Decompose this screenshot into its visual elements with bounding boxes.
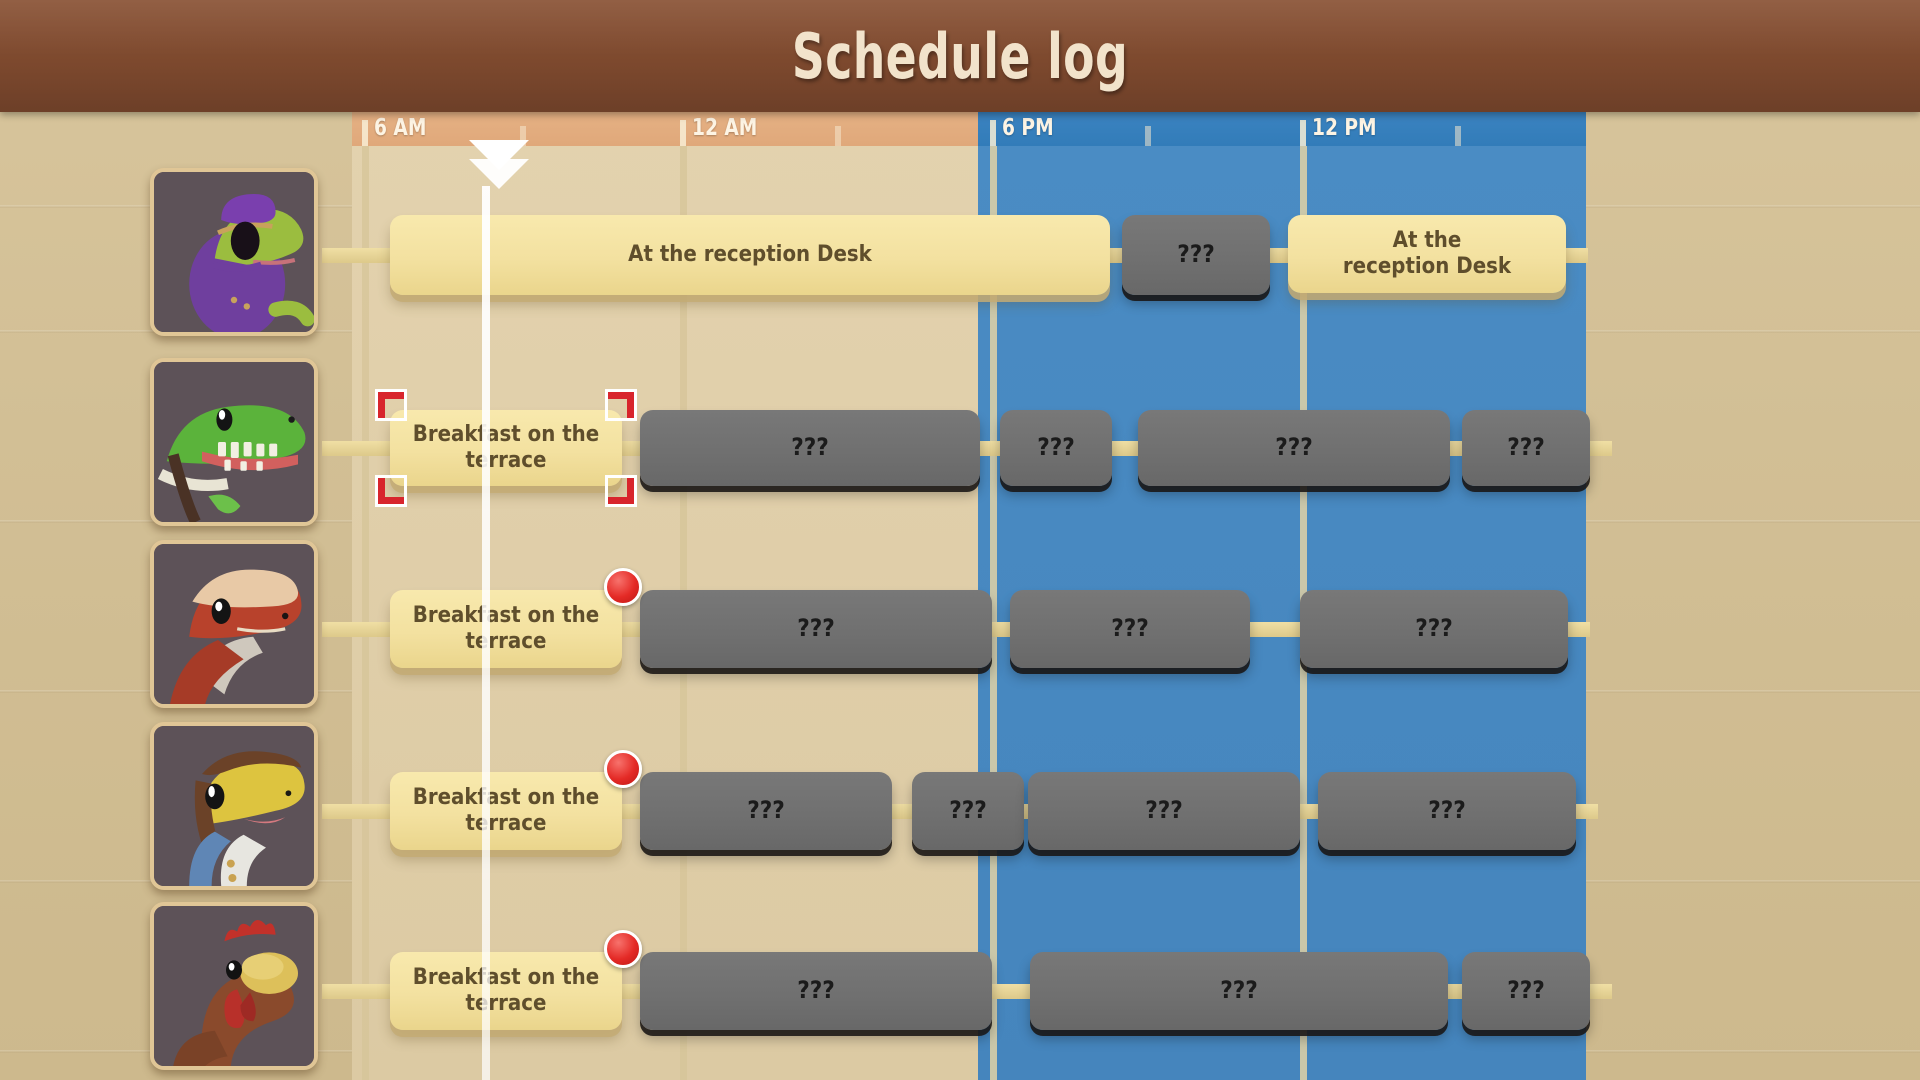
unknown-activity-card[interactable]: ??? — [1000, 410, 1112, 486]
unknown-activity-card[interactable]: ??? — [1318, 772, 1576, 850]
hour-label: 6 AM — [374, 115, 426, 141]
unknown-activity-card[interactable]: ??? — [912, 772, 1024, 850]
unknown-activity-card[interactable]: ??? — [640, 410, 980, 486]
activity-card-label: ??? — [737, 797, 795, 825]
activity-card-label: ??? — [787, 977, 845, 1005]
activity-card-label: ??? — [1210, 977, 1268, 1005]
activity-card[interactable]: At the reception Desk — [390, 215, 1110, 295]
unknown-activity-card[interactable]: ??? — [1122, 215, 1270, 295]
hour-header-strip[interactable]: 6 AM12 AM6 PM12 PM — [352, 112, 1586, 146]
hour-tick-minor — [1455, 126, 1461, 146]
character-portrait-brown-rooster[interactable] — [150, 902, 318, 1070]
activity-card-label: ??? — [1497, 434, 1555, 462]
avatar — [154, 726, 314, 886]
activity-card[interactable]: Breakfast on the terrace — [390, 590, 622, 668]
unknown-activity-card[interactable]: ??? — [1010, 590, 1250, 668]
unknown-activity-card[interactable]: ??? — [1030, 952, 1448, 1030]
avatar — [154, 362, 314, 522]
unknown-activity-card[interactable]: ??? — [1462, 952, 1590, 1030]
hour-tick-major — [990, 120, 996, 146]
alert-badge-icon[interactable] — [604, 750, 642, 788]
avatar — [154, 172, 314, 332]
hour-tick-major — [680, 120, 686, 146]
hour-tick-minor — [835, 126, 841, 146]
avatar — [154, 906, 314, 1066]
title-bar: Schedule log — [0, 0, 1920, 112]
unknown-activity-card[interactable]: ??? — [1138, 410, 1450, 486]
unknown-activity-card[interactable]: ??? — [1462, 410, 1590, 486]
activity-card-label: ??? — [781, 434, 839, 462]
hour-header-night-segment — [978, 112, 1586, 146]
activity-card-label: Breakfast on the terrace — [403, 785, 609, 836]
hour-tick-minor — [1145, 126, 1151, 146]
unknown-activity-card[interactable]: ??? — [640, 952, 992, 1030]
activity-card-label: Breakfast on the terrace — [403, 422, 609, 473]
activity-card-label: Breakfast on the terrace — [403, 965, 609, 1016]
activity-card-label: At the reception Desk — [1333, 228, 1521, 279]
activity-card-label: ??? — [1418, 797, 1476, 825]
unknown-activity-card[interactable]: ??? — [640, 590, 992, 668]
activity-card-label: ??? — [1405, 615, 1463, 643]
activity-card-label: Breakfast on the terrace — [403, 603, 609, 654]
activity-card[interactable]: Breakfast on the terrace — [390, 772, 622, 850]
activity-card-label: ??? — [1497, 977, 1555, 1005]
activity-card-label: ??? — [1167, 241, 1225, 269]
activity-card-label: ??? — [1027, 434, 1085, 462]
character-portrait-gecko-bellhop[interactable] — [150, 168, 318, 336]
character-portrait-yellow-dino-scientist[interactable] — [150, 722, 318, 890]
hour-tick-major — [362, 120, 368, 146]
activity-card-label: ??? — [939, 797, 997, 825]
hour-tick-major — [1300, 120, 1306, 146]
hour-label: 12 PM — [1312, 115, 1377, 141]
current-time-line — [482, 186, 490, 1080]
character-portrait-red-crested-dino[interactable] — [150, 540, 318, 708]
activity-card-label: ??? — [787, 615, 845, 643]
unknown-activity-card[interactable]: ??? — [640, 772, 892, 850]
page-title: Schedule log — [173, 0, 1747, 112]
activity-card-label: At the reception Desk — [618, 242, 882, 268]
alert-badge-icon[interactable] — [604, 930, 642, 968]
hour-header-day-segment — [352, 112, 978, 146]
unknown-activity-card[interactable]: ??? — [1028, 772, 1300, 850]
hour-label: 12 AM — [692, 115, 757, 141]
activity-card[interactable]: Breakfast on the terrace — [390, 952, 622, 1030]
activity-card-label: ??? — [1265, 434, 1323, 462]
hour-label: 6 PM — [1002, 115, 1054, 141]
activity-card[interactable]: At the reception Desk — [1288, 215, 1566, 293]
character-portrait-green-raptor[interactable] — [150, 358, 318, 526]
activity-card-label: ??? — [1135, 797, 1193, 825]
activity-card[interactable]: Breakfast on the terrace — [390, 410, 622, 486]
activity-card-label: ??? — [1101, 615, 1159, 643]
avatar — [154, 544, 314, 704]
alert-badge-icon[interactable] — [604, 568, 642, 606]
unknown-activity-card[interactable]: ??? — [1300, 590, 1568, 668]
